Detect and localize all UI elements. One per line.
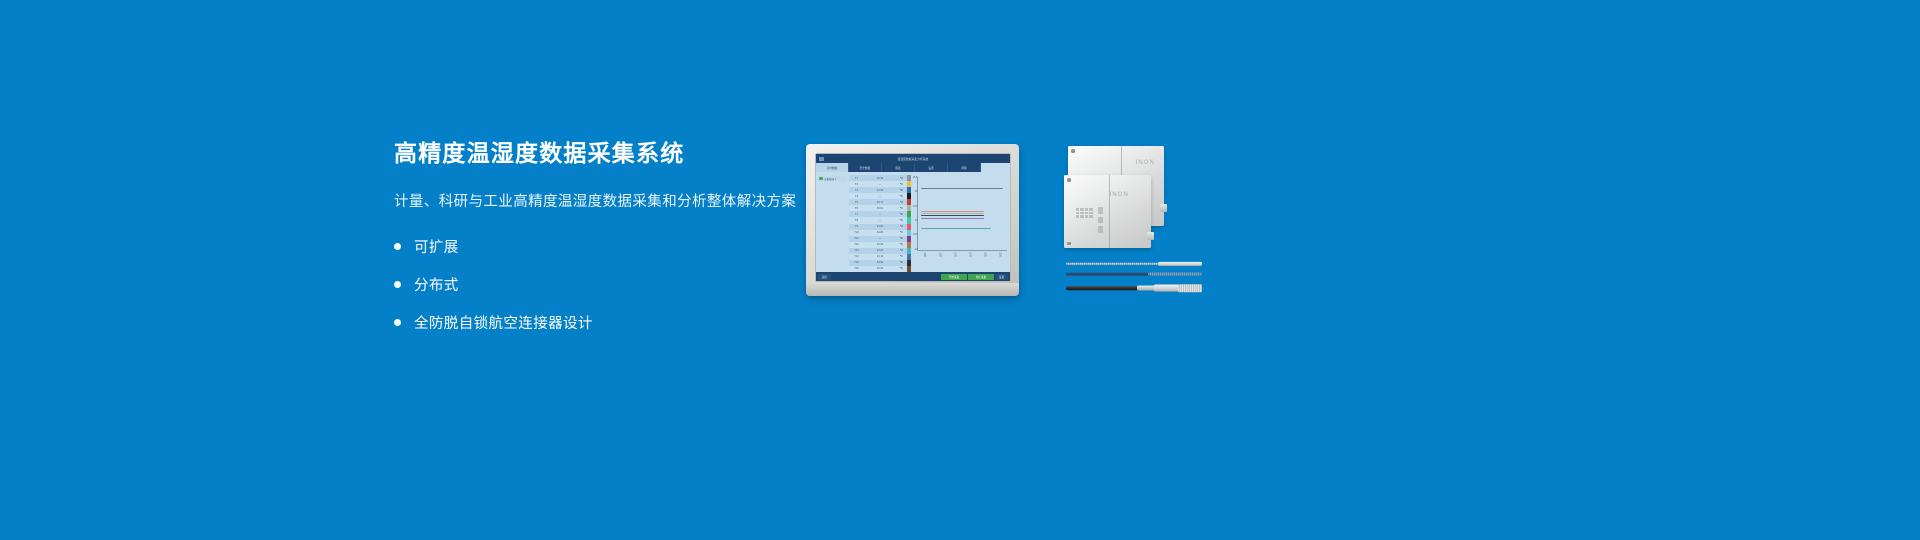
y-tick-label: 25.5 [912, 177, 918, 179]
start-acquisition-button[interactable]: 开始采集 [941, 274, 967, 280]
cell-channel: T2 [850, 183, 863, 186]
probe-tip [1158, 261, 1202, 265]
list-item: 可扩展 [394, 233, 814, 260]
connector-body [1154, 285, 1178, 292]
cell-channel: T6 [850, 207, 863, 210]
chart-plot-area: 25.52524.52423.523 [917, 177, 1008, 251]
cell-channel: T3 [850, 189, 863, 192]
screw-icon [1067, 178, 1071, 182]
feature-label: 分布式 [414, 274, 459, 295]
cell-unit: ℃ [897, 243, 906, 246]
probe-sensor-head [1178, 284, 1202, 292]
cell-unit: ℃ [897, 189, 906, 192]
aviation-connector-icon [1137, 286, 1156, 291]
cell-unit: ℃ [897, 201, 906, 204]
cell-value: 24.72 [863, 201, 897, 204]
x-axis-ticks: 10:0010:3011:0011:3012:0012:30 [917, 251, 1008, 257]
cell-channel: T13 [850, 249, 863, 252]
cell-unit: ℃ [897, 177, 906, 180]
app-titlebar: 温湿度数据采集分析系统 [816, 154, 1010, 163]
bullet-dot-icon [394, 319, 401, 326]
x-tick-label: 11:30 [968, 252, 970, 257]
cell-unit: ℃ [897, 207, 906, 210]
exit-button[interactable]: 退出 [818, 274, 831, 280]
cell-channel: T5 [850, 201, 863, 204]
probe-cable [1066, 262, 1164, 265]
acquisition-module-front: INON [1064, 175, 1151, 248]
terminal-block-grid [1076, 208, 1093, 218]
list-item: 全防脱自锁航空连接器设计 [394, 309, 814, 336]
cell-unit: ℃ [897, 237, 906, 240]
cell-unit: ℃ [897, 183, 906, 186]
x-tick-label: 10:30 [938, 252, 940, 257]
module-seam [1109, 175, 1110, 248]
x-tick-label: 12:00 [983, 252, 985, 257]
module-sidebar: 采集模块 1 [816, 175, 849, 272]
x-tick-label: 10:00 [923, 252, 925, 257]
pt100-temperature-probe [1066, 261, 1202, 266]
page-title: 高精度温湿度数据采集系统 [394, 140, 814, 168]
connector-slots [1098, 207, 1103, 233]
screw-icon [1067, 242, 1071, 246]
cell-channel: T8 [850, 219, 863, 222]
trend-chart: 25.52524.52423.523 10:0010:3011:0011:301… [911, 175, 1011, 272]
tab-bar: 实时数据 历史数据 报表 设置 帮助 [816, 163, 1010, 172]
chart-series-line [921, 188, 1003, 189]
probe-cable [1066, 286, 1139, 290]
feature-label: 可扩展 [414, 236, 459, 257]
cell-value: 25.61 [863, 207, 897, 210]
connector-port [1160, 204, 1167, 212]
cell-value: 24.11 [863, 255, 897, 258]
feature-list: 可扩展 分布式 全防脱自锁航空连接器设计 [394, 233, 814, 336]
cell-unit: ℃ [897, 195, 906, 198]
cell-value: 24.90 [863, 225, 897, 228]
cell-value: 24.99 [863, 189, 897, 192]
cell-value: --- [863, 237, 897, 240]
cell-unit: ℃ [897, 225, 906, 228]
probe-tip [1148, 273, 1202, 276]
hardware-group: INON INON [1064, 142, 1204, 297]
tab-help[interactable]: 帮助 [948, 163, 981, 172]
y-tick-label: 25 [912, 191, 918, 193]
x-tick-label: 12:30 [998, 252, 1000, 257]
probe-cable [1066, 273, 1153, 275]
monitor-base [806, 283, 1019, 296]
chart-series-line [921, 213, 984, 214]
panel-pc-device: 温湿度数据采集分析系统 实时数据 历史数据 报表 设置 帮助 采集模块 1 [806, 144, 1019, 296]
brand-label: INON [1136, 160, 1155, 166]
y-axis-ticks: 25.52524.52423.523 [912, 177, 918, 251]
tab-history-data[interactable]: 历史数据 [849, 163, 882, 172]
stop-acquisition-button[interactable]: 停止采集 [968, 274, 994, 280]
cell-value: 24.80 [863, 231, 897, 234]
cell-value: --- [863, 183, 897, 186]
bullet-dot-icon [394, 281, 401, 288]
app-body: 采集模块 1 T125.33℃T2---℃T324.99℃T4---℃T524.… [816, 172, 1010, 272]
cell-unit: ℃ [897, 213, 906, 216]
cell-channel: T11 [850, 237, 863, 240]
brand-label: INON [1110, 192, 1129, 198]
cell-channel: T1 [850, 177, 863, 180]
page-subtitle: 计量、科研与工业高精度温湿度数据采集和分析整体解决方案 [394, 190, 814, 211]
cell-value: 24.20 [863, 249, 897, 252]
sidebar-item-module-1[interactable]: 采集模块 1 [818, 176, 847, 181]
y-tick-label: 23.5 [912, 234, 918, 236]
aviation-connector-probe [1066, 284, 1202, 292]
cell-unit: ℃ [897, 219, 906, 222]
cell-channel: T12 [850, 243, 863, 246]
screw-icon [1071, 149, 1075, 153]
cell-channel: T15 [850, 261, 863, 264]
tab-report[interactable]: 报表 [882, 163, 915, 172]
app-footer: 退出 开始采集 停止采集 设置 [816, 272, 1010, 281]
cell-value: --- [863, 213, 897, 216]
y-tick-label: 23 [912, 249, 918, 251]
cell-channel: T10 [850, 231, 863, 234]
cell-channel: T9 [850, 225, 863, 228]
tab-realtime-data[interactable]: 实时数据 [816, 163, 849, 172]
cell-value: --- [863, 219, 897, 222]
cell-channel: T14 [850, 255, 863, 258]
cell-unit: ℃ [897, 231, 906, 234]
tab-bar-filler [981, 163, 1010, 172]
cell-unit: ℃ [897, 267, 906, 270]
cell-channel: T16 [850, 267, 863, 270]
cell-value: 25.90 [863, 243, 897, 246]
x-tick-label: 11:00 [953, 252, 955, 257]
footer-button-group: 开始采集 停止采集 设置 [941, 274, 1008, 280]
settings-button[interactable]: 设置 [995, 274, 1008, 280]
cell-value: 24.90 [863, 261, 897, 264]
channel-table[interactable]: T125.33℃T2---℃T324.99℃T4---℃T524.72℃T625… [849, 175, 907, 272]
cell-unit: ℃ [897, 261, 906, 264]
bullet-dot-icon [394, 243, 401, 250]
chart-series-line [921, 215, 984, 216]
status-dot-icon [819, 177, 823, 181]
connector-port [1147, 232, 1154, 240]
sidebar-item-label: 采集模块 1 [824, 177, 836, 181]
y-tick-label: 24.5 [912, 206, 918, 208]
feature-label: 全防脱自锁航空连接器设计 [414, 312, 593, 333]
device-screen: 温湿度数据采集分析系统 实时数据 历史数据 报表 设置 帮助 采集模块 1 [816, 154, 1010, 281]
monitor-bezel: 温湿度数据采集分析系统 实时数据 历史数据 报表 设置 帮助 采集模块 1 [815, 153, 1011, 282]
y-tick-label: 24 [912, 220, 918, 222]
banner-copy: 高精度温湿度数据采集系统 计量、科研与工业高精度温湿度数据采集和分析整体解决方案… [394, 140, 814, 347]
cell-unit: ℃ [897, 249, 906, 252]
cell-value: 25.94 [863, 267, 897, 270]
chart-series-line [921, 218, 984, 219]
cell-channel: T4 [850, 195, 863, 198]
list-item: 分布式 [394, 271, 814, 298]
cell-channel: T7 [850, 213, 863, 216]
chart-series-line [921, 228, 991, 229]
humidity-probe [1066, 272, 1202, 277]
app-title: 温湿度数据采集分析系统 [824, 156, 1002, 160]
tab-settings[interactable]: 设置 [915, 163, 948, 172]
cell-unit: ℃ [897, 255, 906, 258]
chart-series-line [921, 211, 984, 212]
cell-value: --- [863, 195, 897, 198]
cell-value: 25.33 [863, 177, 897, 180]
